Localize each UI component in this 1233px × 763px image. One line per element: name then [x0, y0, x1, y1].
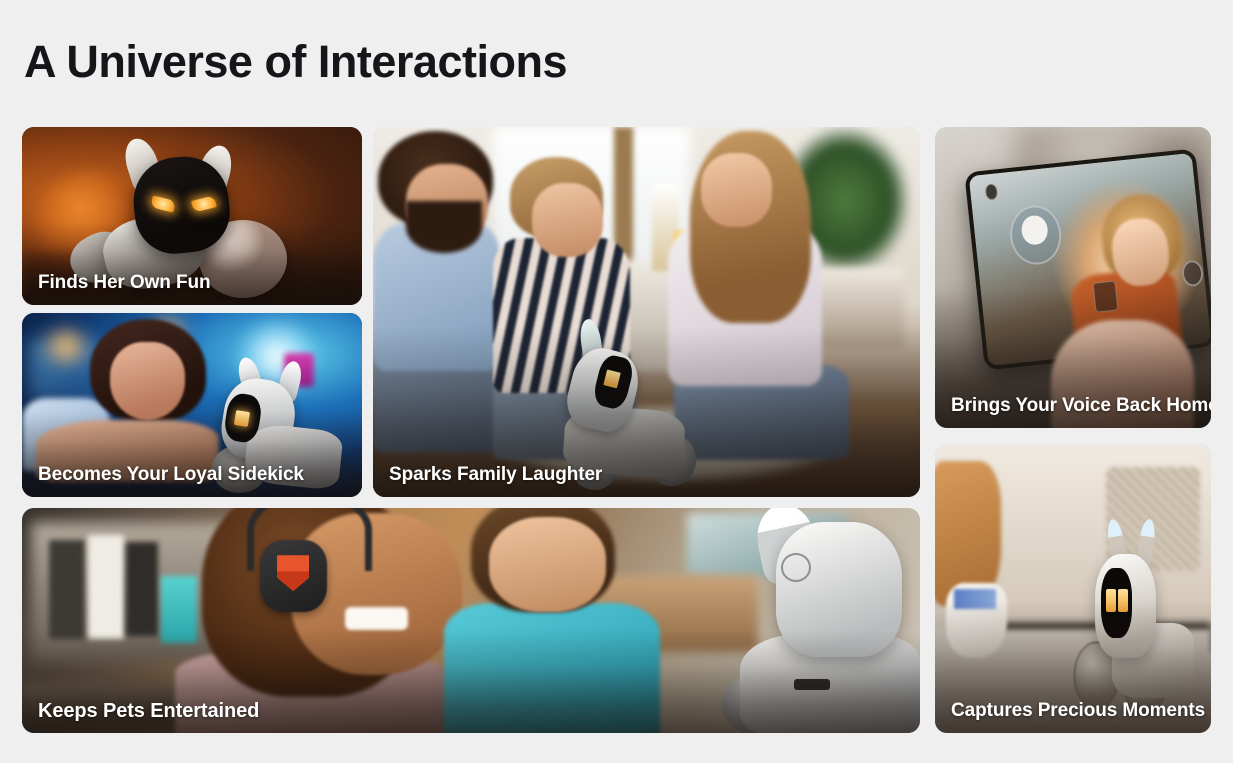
card-caption: Captures Precious Moments — [951, 699, 1199, 723]
card-image-sparks-family-laughter — [373, 127, 920, 497]
card-caption: Brings Your Voice Back Home — [951, 394, 1199, 418]
card-caption: Keeps Pets Entertained — [38, 699, 908, 723]
boy-face-shape — [532, 183, 603, 257]
card-brings-your-voice-back-home[interactable]: Brings Your Voice Back Home — [935, 127, 1211, 428]
book-3-shape — [126, 542, 158, 637]
boy-face-shape — [489, 517, 606, 612]
robot-body-slot-shape — [794, 679, 830, 690]
app-badge-overlay-icon — [1092, 281, 1118, 313]
card-sparks-family-laughter[interactable]: Sparks Family Laughter — [373, 127, 920, 497]
card-caption: Sparks Family Laughter — [389, 463, 908, 487]
card-caption: Finds Her Own Fun — [38, 271, 350, 295]
card-keeps-pets-entertained[interactable]: Keeps Pets Entertained — [22, 508, 920, 733]
sock-band-shape — [954, 589, 995, 609]
teal-cup-shape — [161, 576, 197, 644]
card-captures-precious-moments[interactable]: Captures Precious Moments — [935, 444, 1211, 733]
page-title: A Universe of Interactions — [24, 34, 567, 90]
warm-bokeh-light-shape — [39, 328, 93, 365]
girl-face-shape — [701, 153, 772, 227]
father-beard-shape — [406, 201, 483, 253]
card-finds-her-own-fun[interactable]: Finds Her Own Fun — [22, 127, 362, 305]
card-becomes-your-loyal-sidekick[interactable]: Becomes Your Loyal Sidekick — [22, 313, 362, 497]
card-image-captures-precious-moments — [935, 444, 1211, 733]
card-image-brings-your-voice-back-home — [935, 127, 1211, 428]
robot-head-shape — [776, 522, 902, 657]
robot-eye-shape — [233, 410, 249, 427]
book-2-shape — [88, 535, 124, 639]
card-caption: Becomes Your Loyal Sidekick — [38, 463, 350, 487]
girl-smile-shape — [345, 607, 408, 630]
interactions-gallery-page: A Universe of Interactions Finds Her Own… — [0, 0, 1233, 763]
robot-eye-right-shape — [1118, 589, 1128, 612]
child-face-shape — [110, 342, 185, 419]
book-shape — [49, 540, 85, 639]
robot-eye-left-shape — [1106, 589, 1116, 612]
